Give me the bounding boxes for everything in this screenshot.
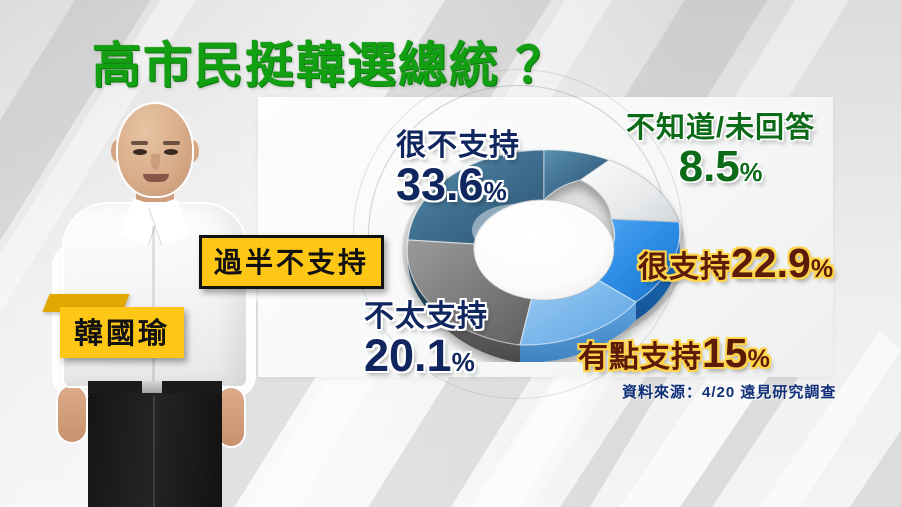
label-strong-no-name: 很不支持 — [396, 120, 520, 164]
label-somewhat-yes-pct: % — [748, 345, 770, 373]
photo-eye-right — [164, 149, 178, 155]
label-strong-yes-value: 22.9 — [731, 240, 811, 286]
label-somewhat-no-name: 不太支持 — [364, 291, 488, 335]
label-somewhat-no-value: 20.1% — [364, 335, 488, 378]
photo-hand-left — [58, 386, 86, 442]
label-strong-yes-name: 很支持 — [638, 251, 731, 284]
photo-head — [118, 104, 192, 196]
label-strong-yes-pct: % — [811, 255, 833, 283]
photo-nose — [151, 154, 160, 170]
photo-eyebrow-left — [131, 141, 148, 145]
label-unknown: 不知道/未回答 8.5% — [626, 104, 815, 188]
label-unknown-name: 不知道/未回答 — [626, 104, 815, 146]
photo-mouth — [143, 174, 169, 182]
label-somewhat-no: 不太支持 20.1% — [364, 291, 488, 378]
source-citation: 資料來源：4/20 遠見研究調查 — [622, 381, 836, 402]
label-somewhat-yes-name: 有點支持 — [578, 341, 702, 374]
photo-trousers — [88, 393, 222, 507]
label-somewhat-yes-value: 15 — [702, 330, 748, 376]
photo-eyebrow-right — [163, 141, 180, 145]
label-strong-yes: 很支持22.9% — [638, 240, 833, 287]
photo-shirt-placket — [152, 226, 155, 386]
highlight-badge-majority: 過半不支持 — [199, 235, 384, 289]
label-unknown-value: 8.5% — [626, 146, 815, 188]
label-strong-no-value: 33.6% — [396, 164, 520, 207]
label-somewhat-yes: 有點支持15% — [578, 330, 770, 377]
name-badge: 韓國瑜 — [60, 307, 184, 358]
photo-eye-left — [133, 149, 147, 155]
photo-trouser-crease — [153, 396, 155, 507]
label-strong-no: 很不支持 33.6% — [396, 120, 520, 207]
